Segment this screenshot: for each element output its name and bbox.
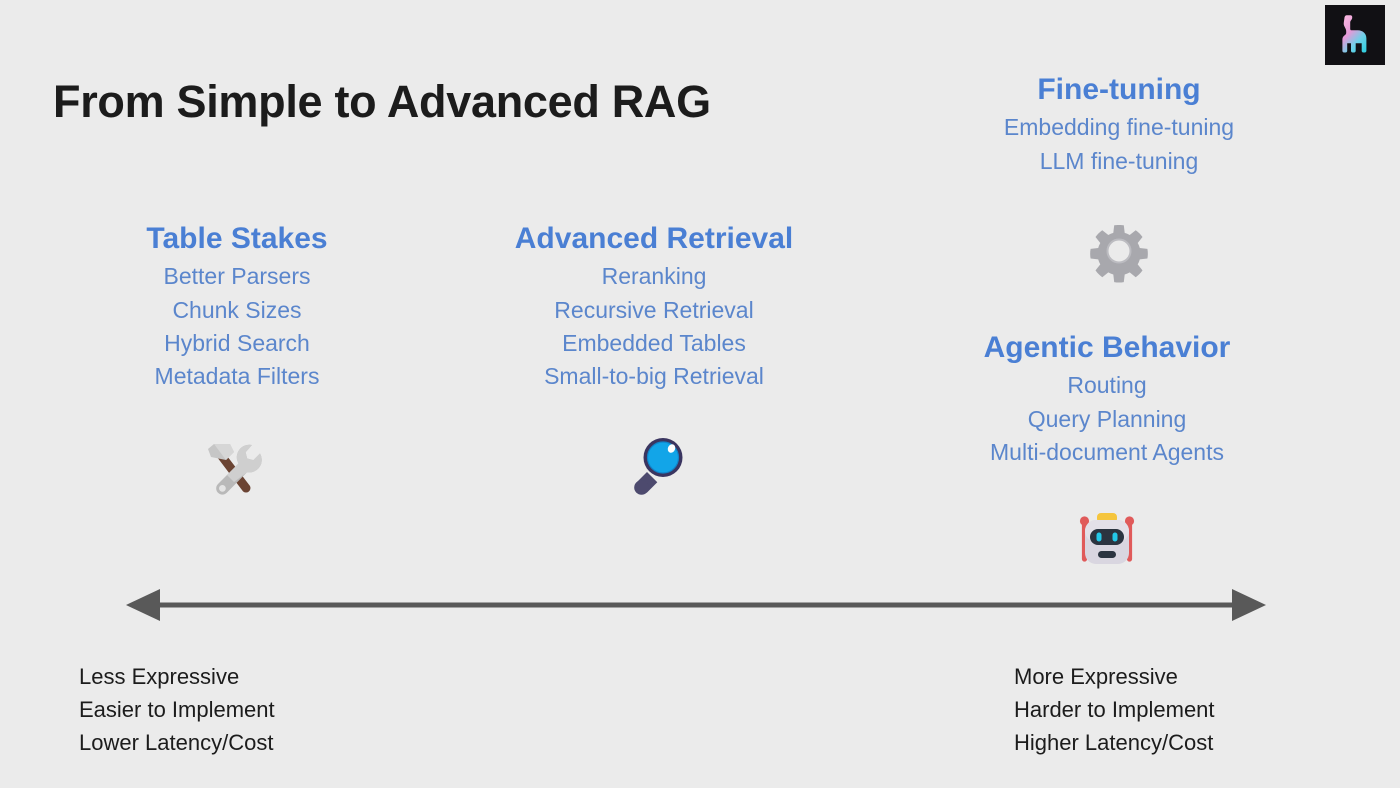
- group-item: Recursive Retrieval: [466, 294, 842, 327]
- group-fine-tuning: Fine-tuning Embedding fine-tuning LLM fi…: [938, 72, 1300, 178]
- gear-glyph: [1083, 215, 1155, 287]
- caption-line: Less Expressive: [79, 660, 275, 693]
- group-item: Embedded Tables: [466, 327, 842, 360]
- group-item: Embedding fine-tuning: [938, 111, 1300, 144]
- caption-left: Less Expressive Easier to Implement Lowe…: [79, 660, 275, 759]
- group-table-stakes: Table Stakes Better Parsers Chunk Sizes …: [96, 221, 378, 394]
- group-item: Chunk Sizes: [96, 294, 378, 327]
- group-items-agentic-behavior: Routing Query Planning Multi-document Ag…: [926, 369, 1288, 469]
- caption-line: Lower Latency/Cost: [79, 726, 275, 759]
- hammer-and-wrench-glyph: [200, 430, 272, 502]
- group-items-table-stakes: Better Parsers Chunk Sizes Hybrid Search…: [96, 260, 378, 393]
- group-item: Reranking: [466, 260, 842, 293]
- caption-line: Higher Latency/Cost: [1014, 726, 1215, 759]
- group-item: LLM fine-tuning: [938, 145, 1300, 178]
- slide-canvas: From Simple to Advanced RAG Fine-tuning …: [0, 0, 1400, 788]
- gear-icon: [1083, 215, 1155, 287]
- group-items-advanced-retrieval: Reranking Recursive Retrieval Embedded T…: [466, 260, 842, 393]
- caption-right: More Expressive Harder to Implement High…: [1014, 660, 1215, 759]
- group-items-fine-tuning: Embedding fine-tuning LLM fine-tuning: [938, 111, 1300, 178]
- group-agentic-behavior: Agentic Behavior Routing Query Planning …: [926, 330, 1288, 469]
- arrow-glyph: [120, 585, 1272, 625]
- group-item: Query Planning: [926, 403, 1288, 436]
- group-advanced-retrieval: Advanced Retrieval Reranking Recursive R…: [466, 221, 842, 394]
- hammer-and-wrench-icon: [200, 430, 272, 502]
- magnifying-glass-icon: [620, 430, 692, 502]
- llama-glyph: [1335, 13, 1375, 57]
- robot-glyph: [1071, 503, 1143, 575]
- group-heading-fine-tuning: Fine-tuning: [938, 72, 1300, 107]
- group-item: Better Parsers: [96, 260, 378, 293]
- group-item: Metadata Filters: [96, 360, 378, 393]
- group-heading-table-stakes: Table Stakes: [96, 221, 378, 256]
- caption-line: Harder to Implement: [1014, 693, 1215, 726]
- group-item: Hybrid Search: [96, 327, 378, 360]
- double-headed-arrow: [120, 585, 1272, 625]
- group-heading-advanced-retrieval: Advanced Retrieval: [466, 221, 842, 256]
- group-item: Routing: [926, 369, 1288, 402]
- group-item: Multi-document Agents: [926, 436, 1288, 469]
- magnifying-glass-glyph: [620, 430, 692, 502]
- caption-line: More Expressive: [1014, 660, 1215, 693]
- llamaindex-logo: [1325, 5, 1385, 65]
- group-heading-agentic-behavior: Agentic Behavior: [926, 330, 1288, 365]
- robot-icon: [1071, 503, 1143, 575]
- caption-line: Easier to Implement: [79, 693, 275, 726]
- page-title: From Simple to Advanced RAG: [53, 76, 711, 128]
- group-item: Small-to-big Retrieval: [466, 360, 842, 393]
